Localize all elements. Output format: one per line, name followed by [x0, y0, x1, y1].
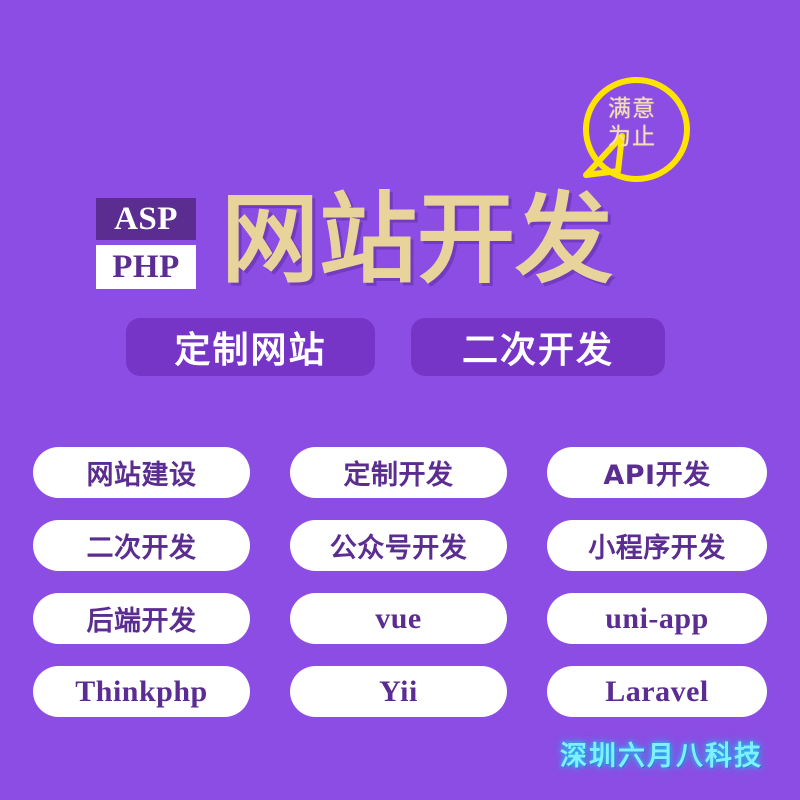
service-tag-label: Yii [379, 675, 418, 709]
satisfaction-badge: 满意 为止 [575, 70, 700, 195]
highlight-pill-custom-site[interactable]: 定制网站 [126, 318, 375, 376]
highlight-pill-row: 定制网站 二次开发 [126, 318, 665, 376]
service-tag-label: 定制开发 [344, 453, 454, 492]
service-tag-label: 网站建设 [87, 453, 197, 492]
service-tag[interactable]: uni-app [547, 593, 767, 644]
service-tag[interactable]: 小程序开发 [547, 520, 767, 571]
tech-badge-php: PHP [96, 245, 196, 289]
highlight-pill-secondary-dev[interactable]: 二次开发 [411, 318, 665, 376]
service-tag-label: vue [375, 602, 422, 636]
service-tag[interactable]: 定制开发 [290, 447, 507, 498]
tech-badge-asp: ASP [96, 198, 196, 240]
service-tag-label: 后端开发 [87, 599, 197, 638]
service-tag[interactable]: Laravel [547, 666, 767, 717]
satisfaction-badge-text: 满意 为止 [593, 88, 671, 160]
service-tag[interactable]: API开发 [547, 447, 767, 498]
service-tag-label: uni-app [605, 602, 709, 636]
service-tag-label: 二次开发 [87, 526, 197, 565]
service-tag[interactable]: 公众号开发 [290, 520, 507, 571]
service-tag-label: API开发 [603, 453, 710, 492]
service-tag[interactable]: 二次开发 [33, 520, 250, 571]
service-tag-label: 小程序开发 [588, 526, 726, 565]
service-tag[interactable]: vue [290, 593, 507, 644]
service-tag-label: 公众号开发 [330, 526, 468, 565]
satisfaction-line-1: 满意 [608, 97, 656, 123]
service-tag[interactable]: Thinkphp [33, 666, 250, 717]
satisfaction-line-2: 为止 [608, 125, 656, 151]
company-signature: 深圳六月八科技 [560, 734, 763, 773]
tech-badge-stack: ASP PHP [96, 198, 196, 289]
headline-title: 网站开发 [221, 190, 613, 290]
service-tag[interactable]: Yii [290, 666, 507, 717]
service-tag-label: Thinkphp [75, 675, 207, 709]
service-tag-grid: 网站建设 定制开发 API开发 二次开发 公众号开发 小程序开发 后端开发 vu… [33, 447, 767, 717]
service-tag[interactable]: 后端开发 [33, 593, 250, 644]
promo-banner: 满意 为止 ASP PHP 网站开发 定制网站 二次开发 网站建设 定制开发 A… [0, 0, 800, 800]
service-tag[interactable]: 网站建设 [33, 447, 250, 498]
service-tag-label: Laravel [605, 675, 708, 709]
